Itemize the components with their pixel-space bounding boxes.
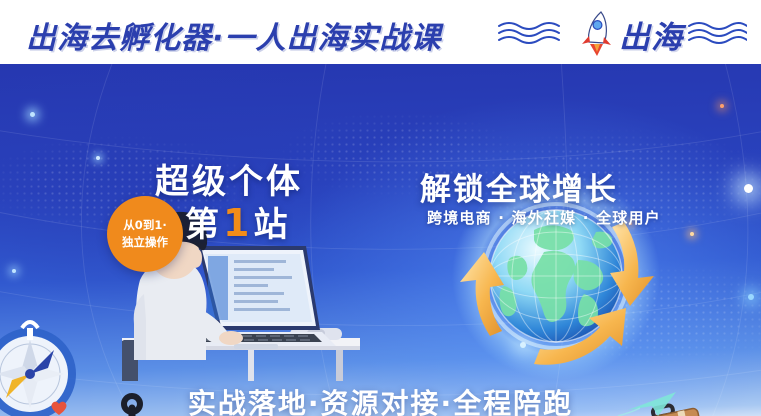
badge-line-2: 独立操作 (122, 234, 168, 251)
glow-particle (520, 342, 526, 348)
logo-text: 出海 (619, 12, 683, 57)
badge-line-1: 从0到1· (123, 217, 166, 234)
bottom-headline: 实战落地·资源对接·全程陪跑 (0, 382, 761, 416)
wave-lines-icon (499, 23, 559, 43)
left-subheadline-number: 1 (221, 201, 253, 245)
glow-particle (720, 104, 724, 108)
left-headline: 超级个体 (155, 154, 303, 203)
right-headline: 解锁全球增长 (420, 164, 618, 209)
brand-logo[interactable]: 出海 (497, 8, 747, 56)
glow-particle (30, 112, 35, 117)
rocket-icon (582, 12, 611, 56)
status-badge: 从0到1· 独立操作 (107, 196, 183, 272)
header-bar: 出海去孵化器·一人出海实战课 (0, 0, 761, 64)
left-subheadline-prefix: 第 (185, 205, 221, 245)
glow-particle (690, 232, 694, 236)
glow-particle (12, 269, 16, 273)
left-subheadline-suffix: 站 (253, 205, 289, 245)
glow-particle (748, 294, 754, 300)
glow-particle (96, 156, 100, 160)
main-visual: 超级个体 第1站 从0到1· 独立操作 解锁全球增长 跨境电商 · 海外社媒 ·… (0, 64, 761, 416)
poster-banner: 出海去孵化器·一人出海实战课 (0, 0, 761, 416)
glow-particle (744, 184, 753, 193)
left-subheadline: 第1站 (185, 197, 289, 246)
page-title: 出海去孵化器·一人出海实战课 (26, 13, 441, 57)
wave-lines-icon-right (689, 23, 747, 43)
right-subtitle: 跨境电商 · 海外社媒 · 全球用户 (427, 207, 661, 228)
